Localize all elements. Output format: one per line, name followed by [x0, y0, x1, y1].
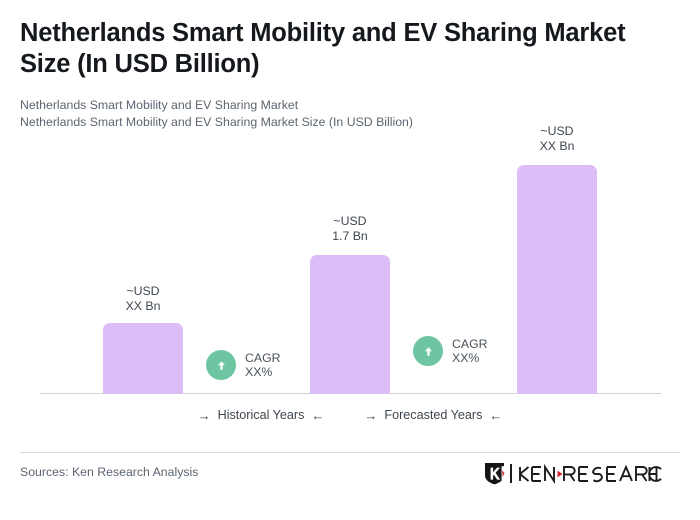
bar-value-line-2a: ~USD [310, 214, 390, 229]
legend-label-historical: Historical Years [218, 408, 305, 422]
legend-item-forecasted-years: → Forecasted Years ← [364, 408, 502, 422]
cagr-text-historical: CAGR XX% [245, 351, 281, 380]
bar-current[interactable] [310, 255, 390, 394]
logo-divider [510, 464, 512, 483]
cagr-badge-historical[interactable]: CAGR XX% [206, 350, 281, 380]
cagr-text-forecast: CAGR XX% [452, 337, 488, 366]
bar-value-label-3: ~USD XX Bn [517, 124, 597, 153]
bar-chart: ~USD XX Bn CAGR XX% ~USD 1.7 Bn [0, 0, 700, 440]
arrow-right-icon: → [364, 409, 377, 422]
bar-value-line-2b: 1.7 Bn [310, 229, 390, 244]
period-legend: → Historical Years ← → Forecasted Years … [0, 408, 700, 422]
cagr-value-1: XX% [245, 365, 272, 379]
shield-k-icon [484, 462, 505, 485]
bar-historical[interactable] [103, 323, 183, 394]
sources-text: Sources: Ken Research Analysis [20, 465, 198, 479]
logo-wordmark [517, 464, 667, 484]
bar-value-line-3b: XX Bn [517, 139, 597, 154]
arrow-right-icon: → [198, 409, 211, 422]
bar-value-label-1: ~USD XX Bn [103, 284, 183, 313]
ken-research-logo [484, 462, 667, 485]
bar-value-line-1a: ~USD [103, 284, 183, 299]
bar-value-line-1b: XX Bn [103, 299, 183, 314]
bar-value-label-2: ~USD 1.7 Bn [310, 214, 390, 243]
cagr-label-1: CAGR [245, 351, 281, 365]
cagr-label-2: CAGR [452, 337, 488, 351]
bar-forecast[interactable] [517, 165, 597, 394]
chart-page: Netherlands Smart Mobility and EV Sharin… [0, 0, 700, 520]
bar-value-line-3a: ~USD [517, 124, 597, 139]
cagr-value-2: XX% [452, 351, 479, 365]
legend-item-historical-years: → Historical Years ← [198, 408, 325, 422]
arrow-up-icon [206, 350, 236, 380]
arrow-left-icon: ← [311, 409, 324, 422]
arrow-up-icon [413, 336, 443, 366]
legend-label-forecasted: Forecasted Years [384, 408, 482, 422]
cagr-badge-forecast[interactable]: CAGR XX% [413, 336, 488, 366]
arrow-left-icon: ← [489, 409, 502, 422]
footer-divider [20, 452, 680, 453]
